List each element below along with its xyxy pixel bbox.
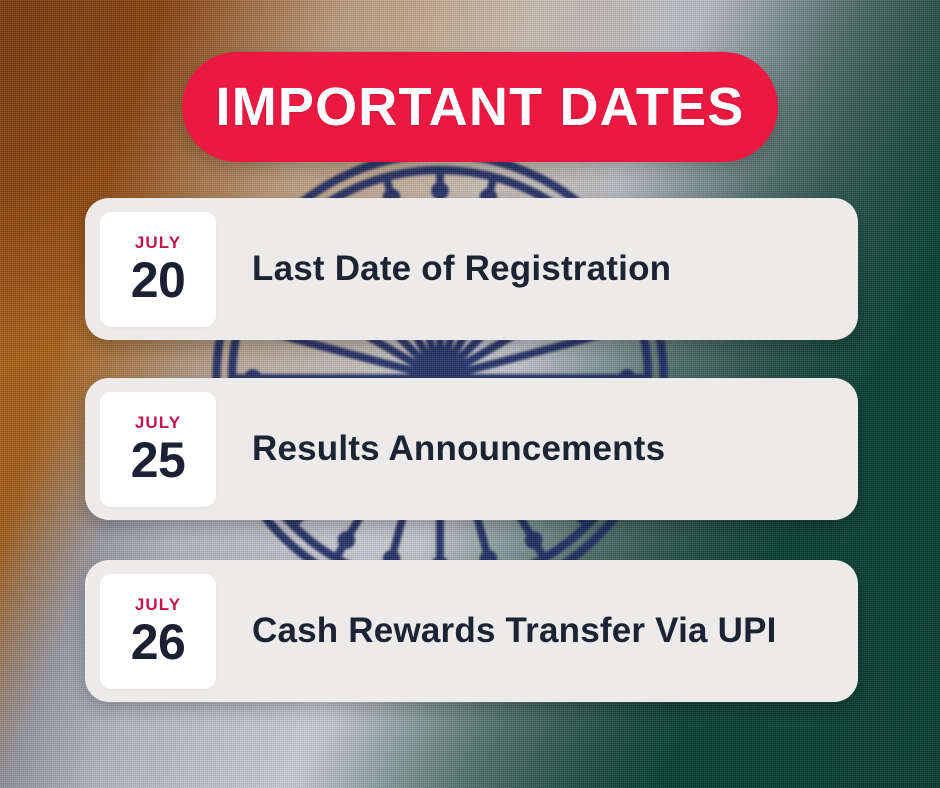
date-day-number: 20 (131, 255, 186, 305)
table-row[interactable]: JULY 26 Cash Rewards Transfer Via UPI (85, 560, 858, 702)
date-month-label: JULY (135, 414, 181, 431)
row-label: Results Announcements (252, 430, 665, 469)
page-title: IMPORTANT DATES (216, 80, 745, 134)
row-label: Last Date of Registration (252, 250, 671, 289)
row-label: Cash Rewards Transfer Via UPI (252, 612, 777, 651)
date-badge: JULY 25 (100, 392, 216, 507)
page-title-pill: IMPORTANT DATES (182, 52, 778, 162)
date-badge: JULY 20 (100, 212, 216, 327)
table-row[interactable]: JULY 20 Last Date of Registration (85, 198, 858, 340)
date-month-label: JULY (135, 234, 181, 251)
date-badge: JULY 26 (100, 574, 216, 689)
date-month-label: JULY (135, 596, 181, 613)
date-day-number: 26 (131, 617, 186, 667)
date-day-number: 25 (131, 435, 186, 485)
table-row[interactable]: JULY 25 Results Announcements (85, 378, 858, 520)
